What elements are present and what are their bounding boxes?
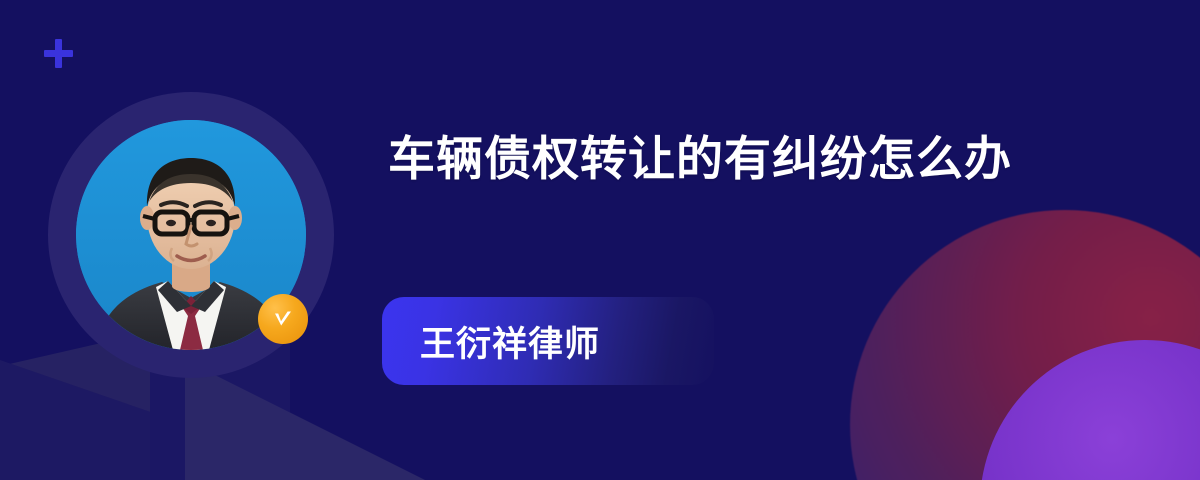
author-name-button[interactable]: 王衍祥律师 <box>382 297 714 385</box>
verified-badge-icon <box>258 294 308 344</box>
plus-icon <box>44 39 73 68</box>
lawyer-article-banner: 车辆债权转让的有纠纷怎么办 王衍祥律师 <box>0 0 1200 480</box>
background-polygon-lower-left <box>0 360 160 480</box>
background-blob-magenta <box>850 210 1200 480</box>
banner-content: 车辆债权转让的有纠纷怎么办 王衍祥律师 <box>388 120 1088 198</box>
background-blob-purple <box>980 340 1200 480</box>
avatar <box>48 92 334 378</box>
page-title: 车辆债权转让的有纠纷怎么办 <box>388 120 1088 198</box>
